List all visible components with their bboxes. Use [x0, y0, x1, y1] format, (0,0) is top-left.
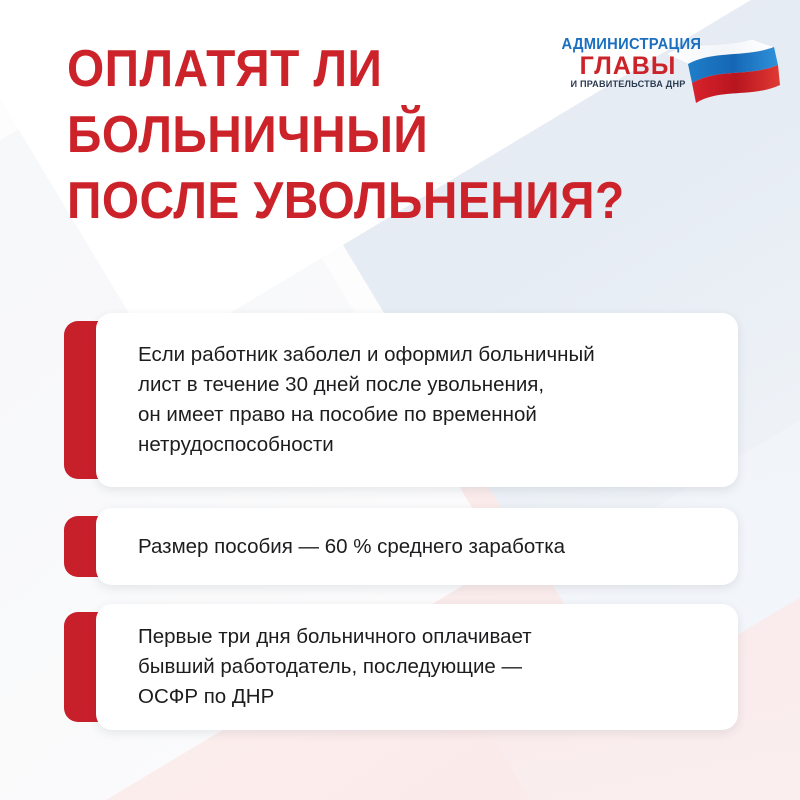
info-card: Первые три дня больничного оплачивает бы…: [64, 604, 738, 730]
card-body: Первые три дня больничного оплачивает бы…: [96, 604, 738, 730]
card-body: Если работник заболел и оформил больничн…: [96, 313, 738, 487]
card-text: Первые три дня больничного оплачивает бы…: [96, 622, 558, 712]
card-text: Если работник заболел и оформил больничн…: [96, 340, 621, 460]
info-card: Размер пособия — 60 % среднего заработка: [64, 508, 738, 585]
info-card: Если работник заболел и оформил больничн…: [64, 313, 738, 487]
logo-line-government: И ПРАВИТЕЛЬСТВА ДНР: [561, 79, 695, 91]
page-title: ОПЛАТЯТ ЛИ БОЛЬНИЧНЫЙ ПОСЛЕ УВОЛЬНЕНИЯ?: [67, 36, 627, 234]
logo-line-administration: АДМИНИСТРАЦИЯ: [562, 36, 695, 53]
organization-logo: АДМИНИСТРАЦИЯ ГЛАВЫ И ПРАВИТЕЛЬСТВА ДНР: [552, 36, 782, 116]
card-body: Размер пособия — 60 % среднего заработка: [96, 508, 738, 585]
card-text: Размер пособия — 60 % среднего заработка: [96, 533, 591, 561]
title-line-2: БОЛЬНИЧНЫЙ: [67, 102, 582, 168]
title-line-1: ОПЛАТЯТ ЛИ: [67, 36, 582, 102]
infographic-poster: ОПЛАТЯТ ЛИ БОЛЬНИЧНЫЙ ПОСЛЕ УВОЛЬНЕНИЯ?: [0, 0, 800, 800]
title-line-3: ПОСЛЕ УВОЛЬНЕНИЯ?: [67, 168, 582, 234]
logo-line-head: ГЛАВЫ: [558, 53, 698, 79]
logo-wordmark: АДМИНИСТРАЦИЯ ГЛАВЫ И ПРАВИТЕЛЬСТВА ДНР: [558, 36, 698, 91]
